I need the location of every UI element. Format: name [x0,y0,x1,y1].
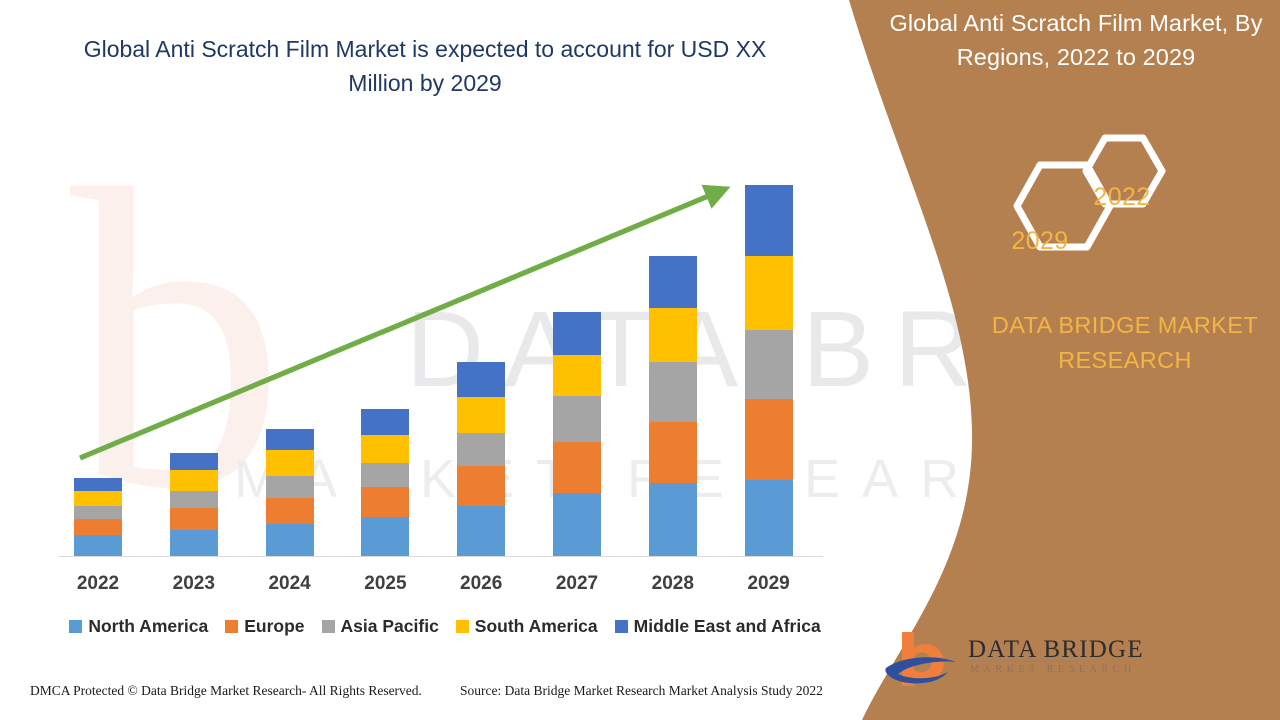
footer-dmca-text: DMCA Protected © Data Bridge Market Rese… [30,683,422,699]
hexagon-label-end-year: 2029 [997,227,1083,256]
brand-name: DATA BRIDGE MARKET RESEARCH [960,308,1280,378]
footer: DMCA Protected © Data Bridge Market Rese… [0,683,850,705]
data-bridge-logo: DATA BRIDGE MARKET RESEARCH [880,628,1110,694]
logo-wordmark: DATA BRIDGE [968,636,1144,664]
x-axis-label-2028: 2028 [628,573,718,595]
logo-subtitle: MARKET RESEARCH [970,664,1136,675]
legend-swatch-icon [322,620,335,633]
footer-source-text: Source: Data Bridge Market Research Mark… [460,683,823,699]
legend-label: Middle East and Africa [634,616,821,637]
legend-swatch-icon [69,620,82,633]
logo-mark-icon [885,632,956,686]
legend-label: Europe [244,616,304,637]
x-axis-label-2027: 2027 [532,573,622,595]
legend-item-north-america[interactable]: North America [69,616,208,637]
x-axis-label-2023: 2023 [149,573,239,595]
x-axis-label-2022: 2022 [53,573,143,595]
legend-label: North America [88,616,208,637]
panel-title: Global Anti Scratch Film Market, By Regi… [880,6,1272,74]
x-axis-label-2025: 2025 [340,573,430,595]
legend-item-europe[interactable]: Europe [225,616,304,637]
infographic-slide: b b DATA BRIDGE MARKET RESEARCH Global A… [0,0,1280,720]
hexagon-badges: 2022 2029 [975,130,1195,285]
growth-trend-arrow [0,0,850,600]
legend-label: South America [475,616,598,637]
legend-item-south-america[interactable]: South America [456,616,598,637]
hexagon-label-start-year: 2022 [1079,183,1165,212]
legend-swatch-icon [615,620,628,633]
x-axis-label-2024: 2024 [245,573,335,595]
x-axis-label-2029: 2029 [724,573,814,595]
legend-swatch-icon [225,620,238,633]
legend-swatch-icon [456,620,469,633]
legend-item-asia-pacific[interactable]: Asia Pacific [322,616,439,637]
chart-legend: North AmericaEuropeAsia PacificSouth Ame… [55,616,835,637]
legend-item-middle-east-and-africa[interactable]: Middle East and Africa [615,616,821,637]
legend-label: Asia Pacific [341,616,439,637]
x-axis-label-2026: 2026 [436,573,526,595]
